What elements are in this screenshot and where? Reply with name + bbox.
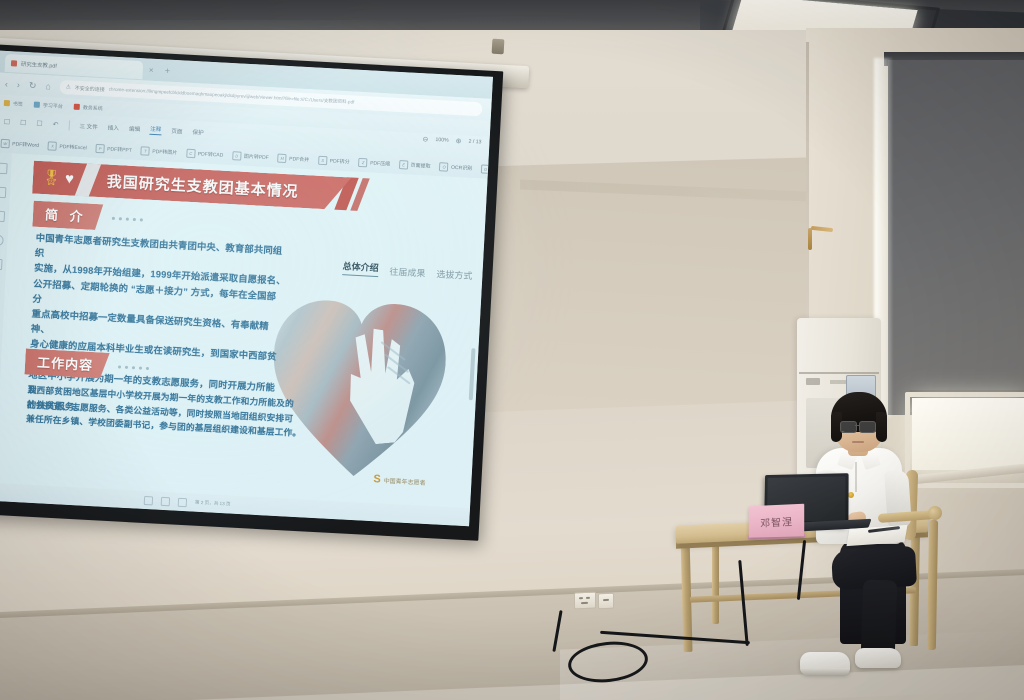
slide-title: 我国研究生支教团基本情况 — [106, 171, 299, 202]
zoom-level-label: 100% — [435, 137, 449, 144]
person-mouth — [852, 441, 864, 443]
warning-icon: ⚠ — [66, 84, 71, 90]
convert-label: PDF压缩 — [370, 159, 390, 167]
slide-tabs: 总体介绍 往届成果 选拔方式 — [342, 259, 473, 281]
slide-tab-selection[interactable]: 选拔方式 — [436, 267, 473, 282]
forward-icon[interactable]: › — [17, 80, 20, 89]
pdf-icon: D — [232, 151, 241, 160]
logo-mark-icon: S — [373, 473, 381, 485]
outline-icon[interactable] — [0, 211, 5, 223]
ocr-icon: O — [439, 162, 448, 171]
zoom-in-icon[interactable]: ⊕ — [455, 137, 461, 145]
youth-league-emblem-icon: 🎖 — [42, 170, 62, 186]
decor-dots — [111, 216, 142, 221]
thumbnails-icon[interactable] — [0, 163, 7, 175]
print-icon[interactable]: ☐ — [36, 120, 43, 128]
page-scrollbar[interactable] — [469, 348, 476, 400]
zoom-out-icon[interactable]: ⊖ — [422, 135, 428, 143]
convert-label: PDF转PPT — [107, 145, 132, 153]
menu-item-page[interactable]: 页面 — [171, 127, 183, 136]
undo-icon[interactable]: ↶ — [52, 121, 58, 129]
continuous-icon[interactable] — [178, 497, 187, 506]
pdf-file-icon — [11, 60, 17, 66]
shoe-right — [855, 648, 901, 668]
organization-logo: S 中国青年志愿者 — [373, 473, 426, 488]
convert-label: PDF拆分 — [330, 157, 350, 165]
convert-button-3[interactable]: TPDF转图片 — [141, 146, 178, 157]
person-shin — [861, 579, 898, 658]
pdf-status-label: 第 2 页，共 13 页 — [195, 500, 231, 508]
convert-button-2[interactable]: PPDF转PPT — [95, 143, 132, 154]
open-icon[interactable]: ☐ — [4, 118, 11, 126]
shoe-sole — [800, 668, 850, 675]
attachment-icon[interactable] — [0, 258, 2, 270]
convert-button-1[interactable]: XPDF转Excel — [48, 141, 87, 152]
convert-label: PDF合并 — [289, 155, 309, 163]
slide-tab-results[interactable]: 往届成果 — [389, 264, 426, 279]
bookmarks-icon[interactable] — [0, 187, 6, 199]
section-tag-intro: 简 介 — [32, 201, 103, 231]
single-page-icon[interactable] — [161, 496, 170, 505]
logo-text: 中国青年志愿者 — [383, 475, 425, 486]
badge-pin-icon — [848, 492, 854, 498]
person-hair-right — [876, 412, 887, 442]
excel-icon: X — [48, 141, 57, 150]
sign-icon: G — [481, 164, 489, 173]
image-icon: T — [141, 146, 150, 155]
power-outlet-secondary[interactable] — [598, 593, 614, 610]
slide-tab-overview[interactable]: 总体介绍 — [342, 259, 379, 276]
chair-armrest-cap — [928, 506, 942, 520]
divider — [68, 120, 70, 130]
extract-icon: E — [399, 160, 408, 169]
menu-item-edit[interactable]: 编辑 — [129, 125, 141, 134]
merge-icon: M — [278, 153, 287, 162]
classroom-scene: 研究生支教.pdf × + ‹ › ↻ ⌂ ⚠ 不安全的连接 chrome-ex… — [0, 0, 1024, 700]
page-indicator: 2 / 13 — [468, 139, 481, 146]
decor-dots — [118, 365, 149, 370]
convert-button-5[interactable]: D图片转PDF — [232, 151, 269, 162]
glasses-bridge — [855, 425, 859, 426]
bookmark-item-1[interactable]: 学习平台 — [34, 101, 63, 110]
star-icon — [4, 100, 10, 106]
home-icon[interactable]: ⌂ — [45, 82, 51, 91]
wall-hook-post — [808, 228, 812, 250]
bookmark-item-0[interactable]: 书签 — [4, 99, 23, 107]
name-card-text: 邓智涅 — [760, 512, 793, 529]
bookmark-label: 书签 — [13, 100, 23, 108]
browser-tab-title: 研究生支教.pdf — [21, 60, 57, 70]
convert-button-6[interactable]: MPDF合并 — [278, 153, 310, 164]
ppt-icon: P — [95, 143, 104, 152]
convert-label: PDF转CAD — [198, 150, 224, 158]
convert-label: 图片转PDF — [244, 152, 269, 160]
screen-surface: 研究生支教.pdf × + ‹ › ↻ ⌂ ⚠ 不安全的连接 chrome-ex… — [0, 51, 493, 527]
search-icon[interactable] — [0, 235, 3, 247]
ac-brand-text — [830, 380, 846, 384]
reload-icon[interactable]: ↻ — [29, 81, 37, 90]
blackout-blind[interactable] — [888, 60, 1024, 415]
back-icon[interactable]: ‹ — [5, 79, 8, 88]
new-tab-button[interactable]: + — [165, 65, 171, 75]
convert-label: OCR识别 — [451, 163, 472, 171]
name-card: 邓智涅 — [749, 504, 804, 538]
save-icon[interactable]: ☐ — [20, 119, 27, 127]
ac-seam — [799, 372, 879, 374]
slide-section-intro-header: 简 介 — [32, 201, 143, 233]
ac-logo — [806, 378, 820, 385]
screen-bracket — [492, 39, 505, 55]
convert-label: PDF转Excel — [59, 142, 87, 150]
convert-button-11[interactable]: GPDF签名 — [481, 164, 489, 175]
menu-item-protect[interactable]: 保护 — [192, 128, 204, 137]
bookmark-icon — [34, 102, 40, 108]
shirt-placket — [855, 462, 857, 492]
bookmark-label: 学习平台 — [43, 102, 63, 110]
bookmark-label: 教务系统 — [83, 104, 103, 112]
convert-button-9[interactable]: E页面提取 — [399, 160, 431, 171]
convert-label: PDF转Word — [12, 140, 39, 148]
menu-item-annotate[interactable]: 注释 — [150, 125, 162, 136]
bookmark-item-2[interactable]: 教务系统 — [74, 103, 103, 112]
slide-emblem: 🎖 ♥ — [33, 170, 75, 187]
convert-button-0[interactable]: WPDF转Word — [1, 138, 40, 149]
convert-button-10[interactable]: OOCR识别 — [439, 162, 472, 173]
menu-item-file[interactable]: 三 文件 — [79, 122, 98, 131]
split-icon: S — [318, 155, 327, 164]
heart-icon: ♥ — [65, 171, 75, 186]
convert-label: 页面提取 — [410, 161, 430, 169]
site-label: 不安全的连接 — [75, 84, 105, 93]
glasses-lens-right — [859, 421, 876, 433]
pdf-page: 🎖 ♥ 我国研究生支教团基本情况 总体介绍 往届成果 选拔方式 — [0, 153, 488, 508]
projection-screen: 研究生支教.pdf × + ‹ › ↻ ⌂ ⚠ 不安全的连接 chrome-ex… — [0, 44, 503, 541]
convert-button-4[interactable]: CPDF转CAD — [186, 148, 223, 159]
red-bookmark-icon — [74, 104, 80, 110]
convert-label: PDF转图片 — [152, 147, 177, 155]
convert-button-7[interactable]: SPDF拆分 — [318, 155, 350, 166]
power-outlet[interactable] — [574, 592, 596, 610]
page-fit-icon[interactable] — [144, 495, 153, 504]
header-slash — [75, 163, 101, 196]
glasses-lens-left — [840, 421, 857, 433]
word-icon: W — [1, 138, 10, 147]
heart-photo-collage — [268, 296, 449, 483]
browser-window: 研究生支教.pdf × + ‹ › ↻ ⌂ ⚠ 不安全的连接 chrome-ex… — [0, 51, 493, 527]
compress-icon: Z — [358, 157, 367, 166]
section-tag-work: 工作内容 — [24, 348, 109, 378]
cad-icon: C — [186, 148, 195, 157]
close-icon[interactable]: × — [149, 66, 154, 75]
convert-button-8[interactable]: ZPDF压缩 — [358, 157, 390, 168]
menu-item-insert[interactable]: 插入 — [108, 123, 120, 132]
